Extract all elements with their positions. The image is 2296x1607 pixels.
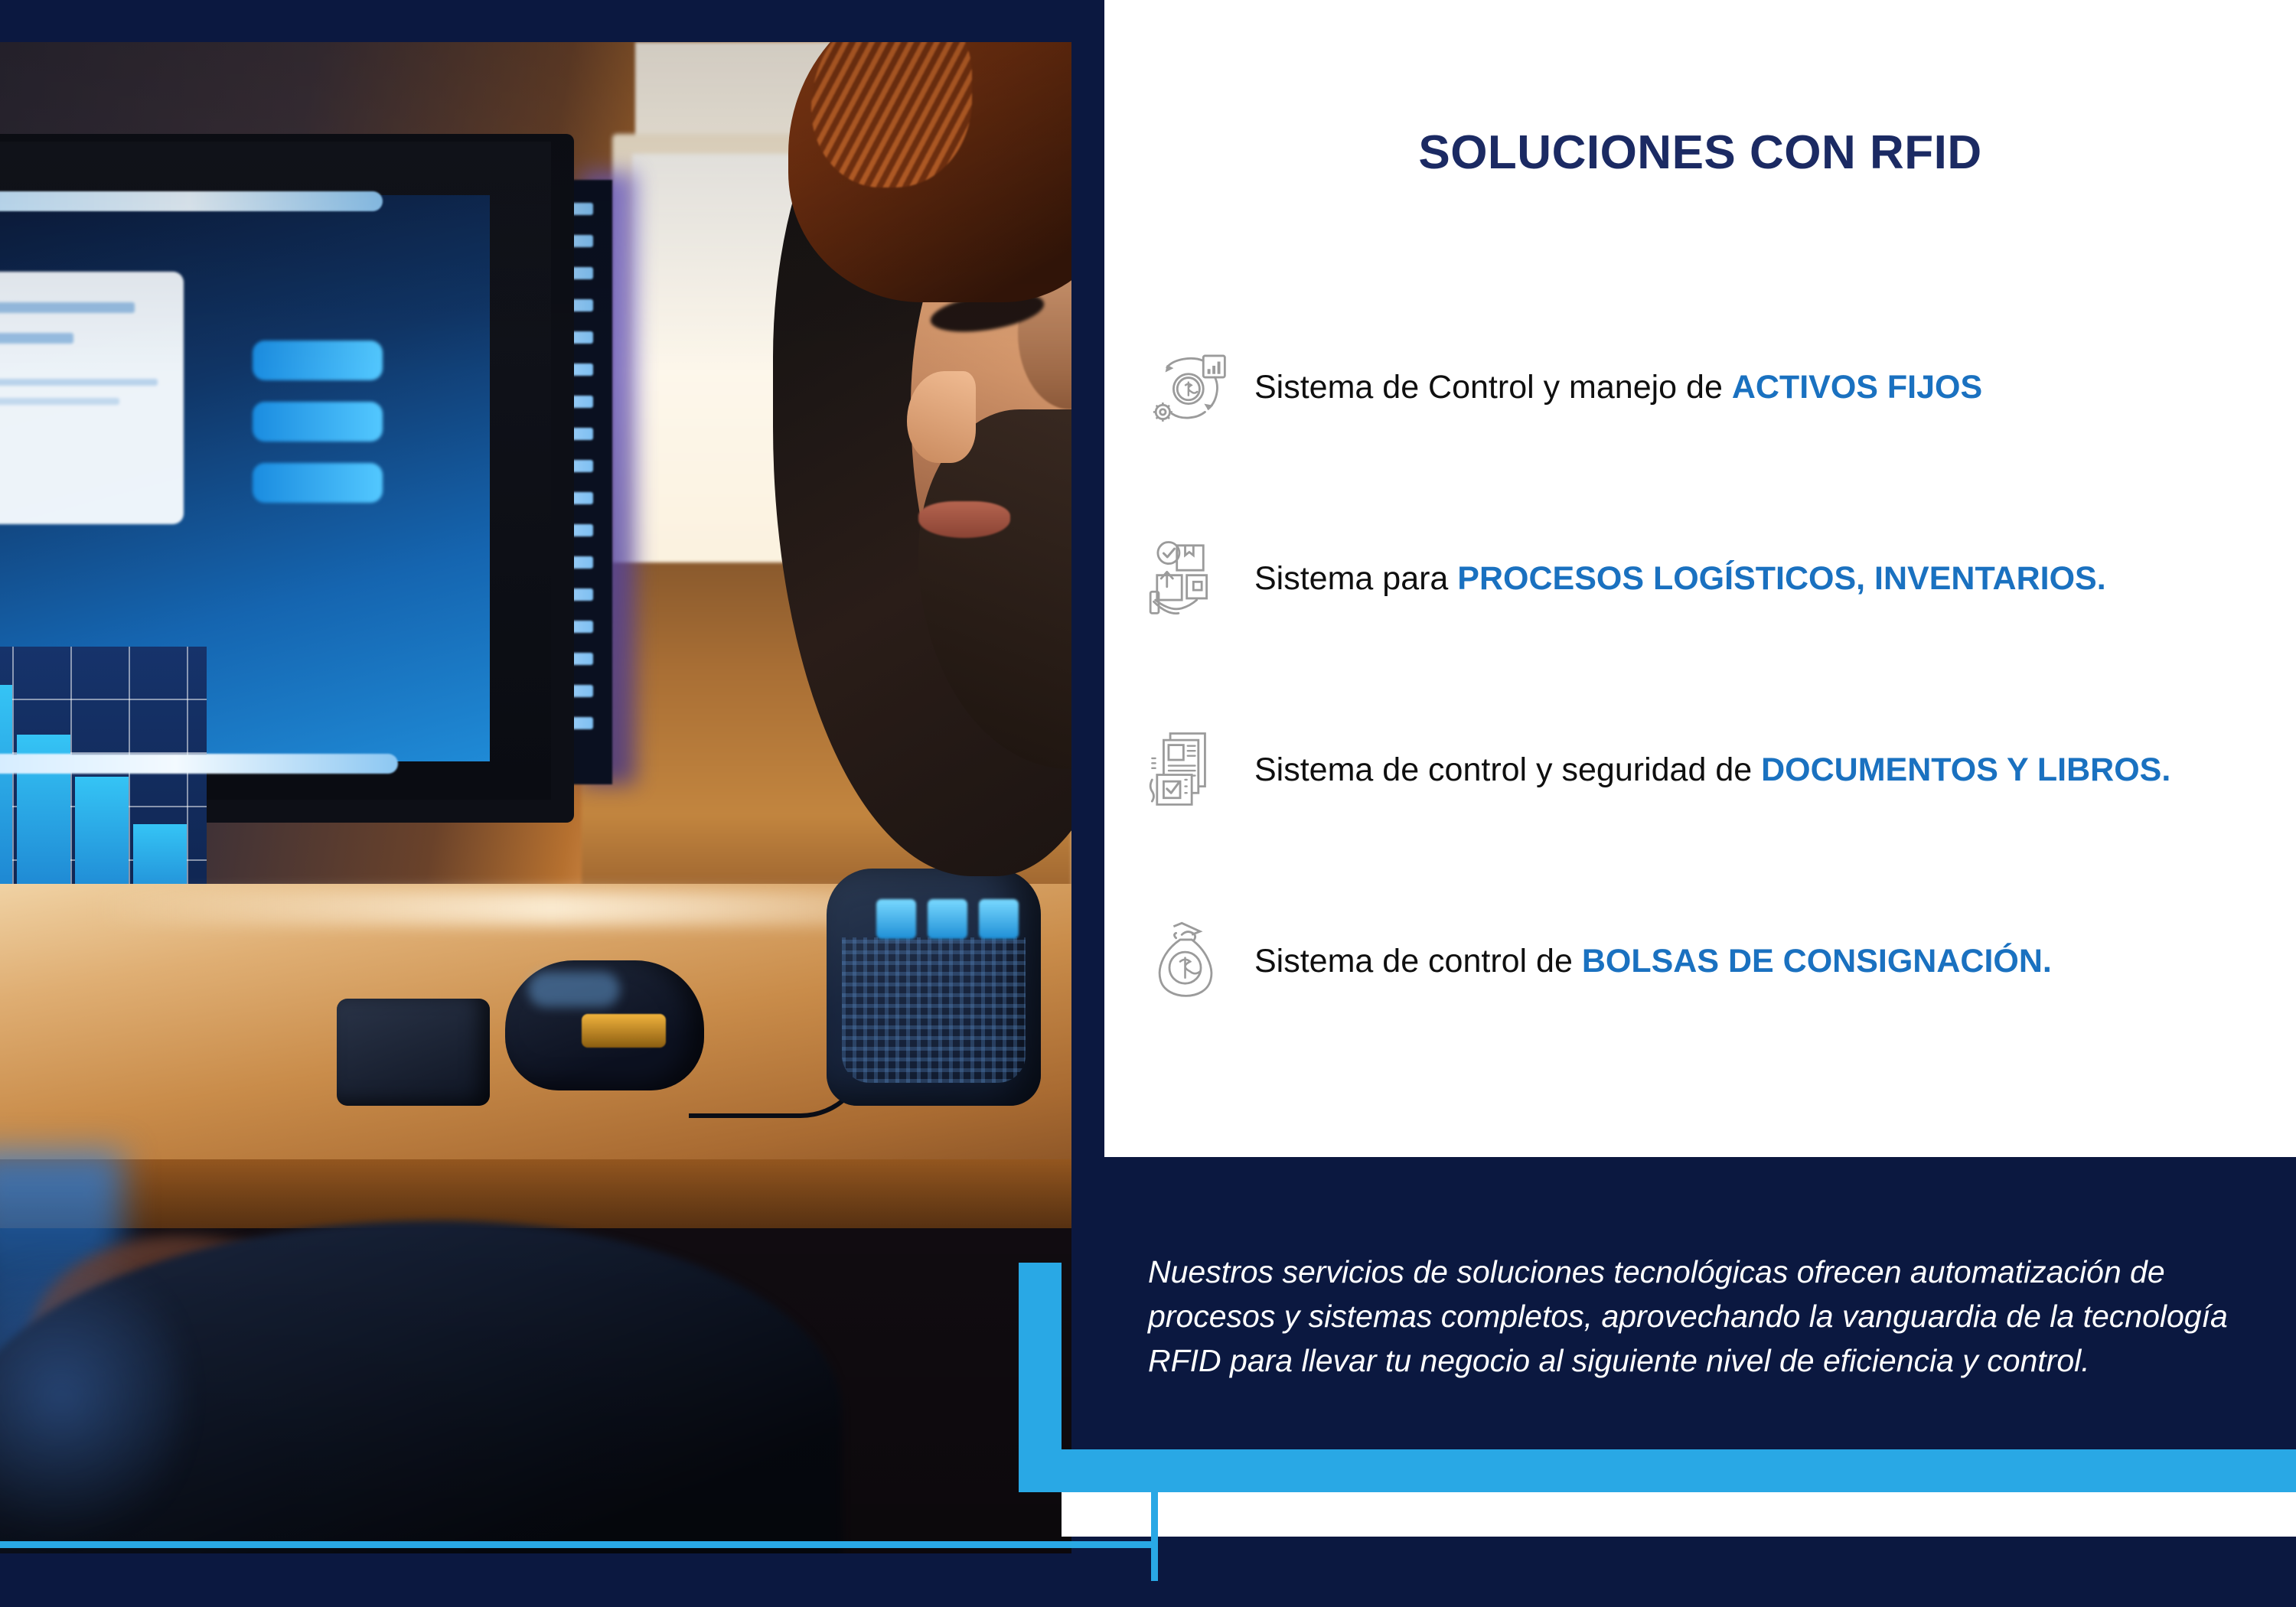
list-item[interactable]: Sistema para PROCESOS LOGÍSTICOS, INVENT… [1144,528,2292,629]
accent-thin-line-horizontal [0,1541,1158,1548]
accent-bracket-horizontal [1019,1449,2296,1492]
photo-vignette [0,42,1071,1553]
asset-cycle-dollar-chart-gear-icon [1144,341,1236,433]
list-item-text: Sistema de control y seguridad de DOCUME… [1236,751,2170,789]
list-item-highlight: DOCUMENTOS Y LIBROS. [1761,751,2170,788]
list-item-prefix: Sistema de Control y manejo de [1254,369,1732,406]
list-item-text: Sistema para PROCESOS LOGÍSTICOS, INVENT… [1236,560,2106,598]
page-title: SOLUCIONES CON RFID [1104,125,2296,180]
list-item-text: Sistema de Control y manejo de ACTIVOS F… [1236,369,1982,406]
slide-root: SOLUCIONES CON RFID [0,0,2296,1607]
services-list: Sistema de Control y manejo de ACTIVOS F… [1144,337,2292,1102]
accent-thin-line-vertical [1151,1492,1158,1581]
list-item-highlight: PROCESOS LOGÍSTICOS, INVENTARIOS. [1457,560,2105,597]
list-item-prefix: Sistema de control y seguridad de [1254,751,1761,788]
list-item[interactable]: Sistema de Control y manejo de ACTIVOS F… [1144,337,2292,438]
documents-stack-check-icon [1144,724,1236,816]
hero-photo [0,42,1071,1553]
list-item-highlight: ACTIVOS FIJOS [1732,369,1982,406]
list-item[interactable]: Sistema de control de BOLSAS DE CONSIGNA… [1144,911,2292,1012]
package-check-hand-logistics-icon [1144,533,1236,624]
list-item-highlight: BOLSAS DE CONSIGNACIÓN. [1582,943,2052,980]
list-item-prefix: Sistema para [1254,560,1457,597]
list-item[interactable]: Sistema de control y seguridad de DOCUME… [1144,719,2292,820]
caption-text: Nuestros servicios de soluciones tecnoló… [1148,1250,2250,1384]
white-bottom-band [1062,1492,2296,1537]
list-item-text: Sistema de control de BOLSAS DE CONSIGNA… [1236,943,2052,980]
money-bag-dollar-icon [1144,915,1236,1007]
list-item-prefix: Sistema de control de [1254,943,1582,980]
